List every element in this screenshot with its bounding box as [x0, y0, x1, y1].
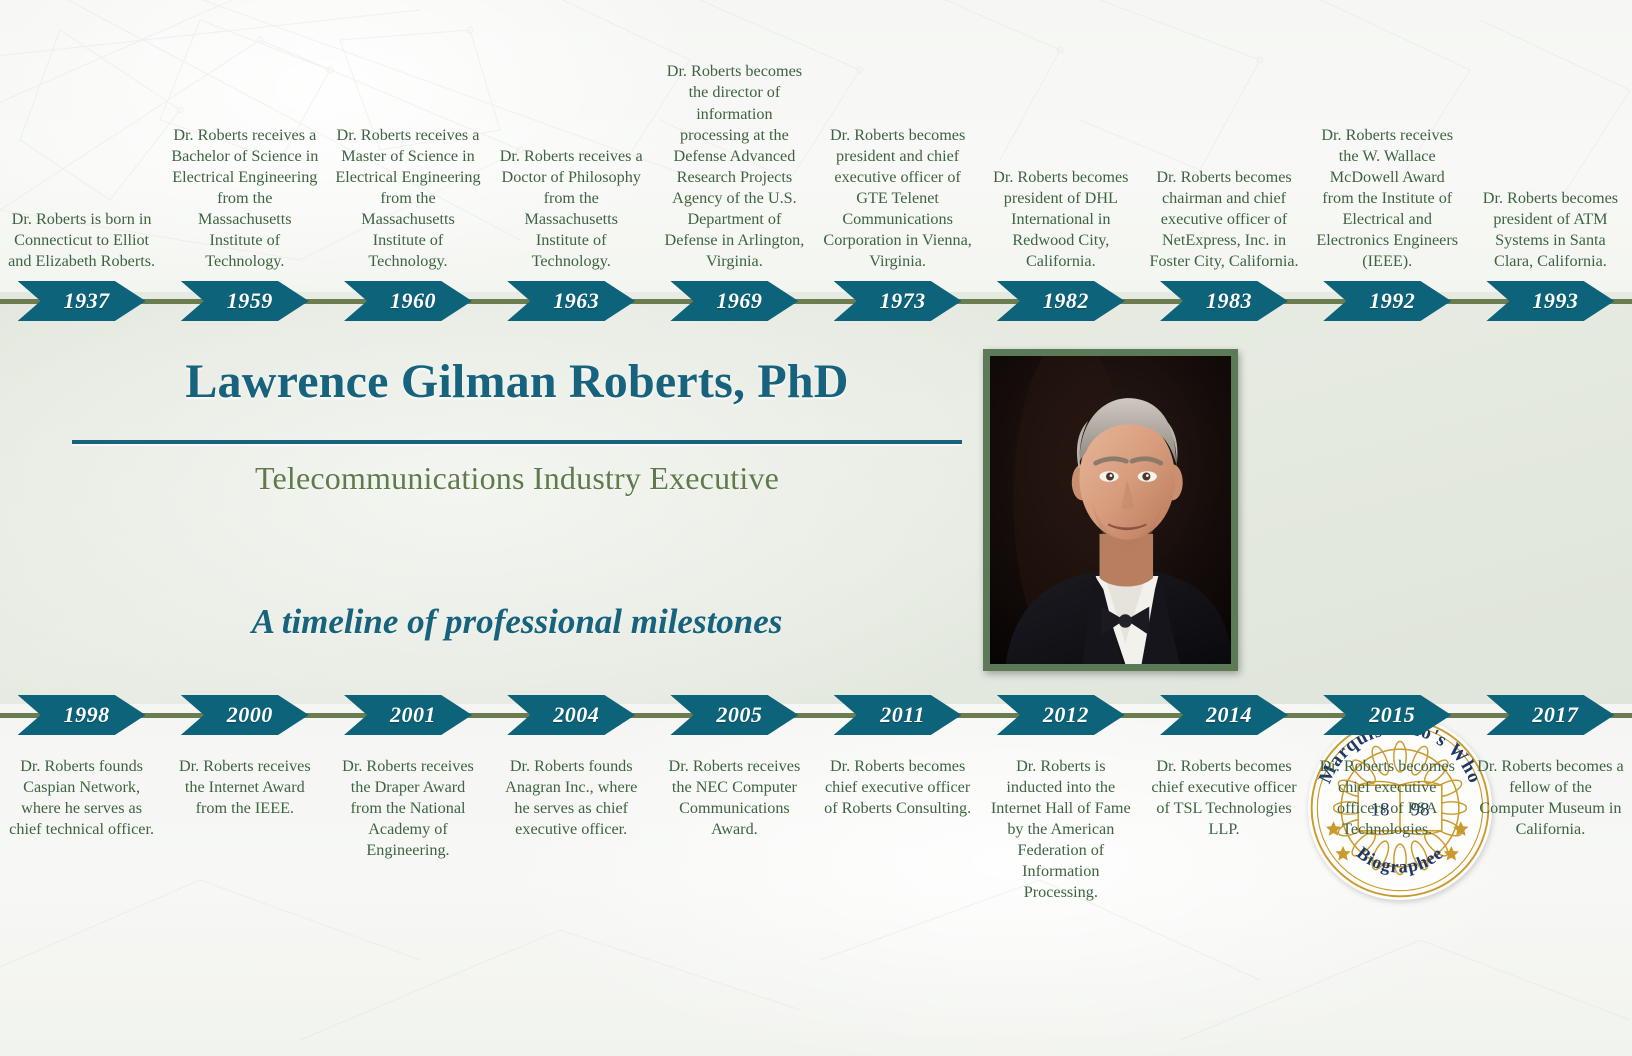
bottom-year-chevrons: 1998 2000 2001 2004 2005 2011 2012 2014 …	[0, 694, 1632, 736]
year-chevron[interactable]: 2015	[1323, 695, 1451, 735]
milestone-text: Dr. Roberts receives the Internet Award …	[163, 752, 326, 819]
year-chevron[interactable]: 2000	[181, 695, 309, 735]
milestone-text: Dr. Roberts becomes a fellow of the Comp…	[1469, 752, 1632, 840]
title-divider	[72, 440, 962, 444]
year-chevron[interactable]: 1998	[18, 695, 146, 735]
milestone-text: Dr. Roberts founds Caspian Network, wher…	[0, 752, 163, 840]
milestone-text: Dr. Roberts becomes chief executive offi…	[1306, 752, 1469, 840]
year-chevron[interactable]: 2014	[1160, 695, 1288, 735]
milestone-text: Dr. Roberts founds Anagran Inc., where h…	[490, 752, 653, 840]
year-chevron[interactable]: 2004	[507, 695, 635, 735]
milestone-text: Dr. Roberts becomes chairman and chief e…	[1142, 167, 1305, 280]
infographic-page: Dr. Roberts is born in Connecticut to El…	[0, 0, 1632, 1056]
year-chevron[interactable]: 2005	[670, 695, 798, 735]
top-milestone-row: Dr. Roberts is born in Connecticut to El…	[0, 0, 1632, 280]
milestone-text: Dr. Roberts receives the NEC Computer Co…	[653, 752, 816, 840]
portrait-photo	[983, 349, 1238, 671]
center-panel: Lawrence Gilman Roberts, PhD Telecommuni…	[0, 292, 1632, 704]
portrait-illustration	[990, 356, 1231, 664]
milestone-text: Dr. Roberts becomes chief executive offi…	[1142, 752, 1305, 840]
page-title: Lawrence Gilman Roberts, PhD	[72, 354, 962, 409]
page-tagline: A timeline of professional milestones	[72, 602, 962, 642]
milestone-text: Dr. Roberts becomes president of DHL Int…	[979, 167, 1142, 280]
milestone-text: Dr. Roberts is inducted into the Interne…	[979, 752, 1142, 903]
year-chevron[interactable]: 2012	[997, 695, 1125, 735]
milestone-text: Dr. Roberts becomes chief executive offi…	[816, 752, 979, 819]
milestone-text: Dr. Roberts receives the Draper Award fr…	[326, 752, 489, 861]
milestone-text: Dr. Roberts becomes president and chief …	[816, 125, 979, 280]
milestone-text: Dr. Roberts receives a Bachelor of Scien…	[163, 125, 326, 280]
milestone-text: Dr. Roberts receives a Doctor of Philoso…	[490, 146, 653, 280]
bottom-timeline-axis: 1998 2000 2001 2004 2005 2011 2012 2014 …	[0, 694, 1632, 736]
year-chevron[interactable]: 2011	[834, 695, 962, 735]
milestone-text: Dr. Roberts is born in Connecticut to El…	[0, 209, 163, 280]
bottom-milestone-row: Dr. Roberts founds Caspian Network, wher…	[0, 752, 1632, 952]
year-chevron[interactable]: 2017	[1486, 695, 1614, 735]
page-subtitle: Telecommunications Industry Executive	[72, 460, 962, 497]
milestone-text: Dr. Roberts receives the W. Wallace McDo…	[1306, 125, 1469, 280]
milestone-text: Dr. Roberts becomes president of ATM Sys…	[1469, 188, 1632, 280]
milestone-text: Dr. Roberts becomes the director of info…	[653, 61, 816, 280]
year-chevron[interactable]: 2001	[344, 695, 472, 735]
milestone-text: Dr. Roberts receives a Master of Science…	[326, 125, 489, 280]
